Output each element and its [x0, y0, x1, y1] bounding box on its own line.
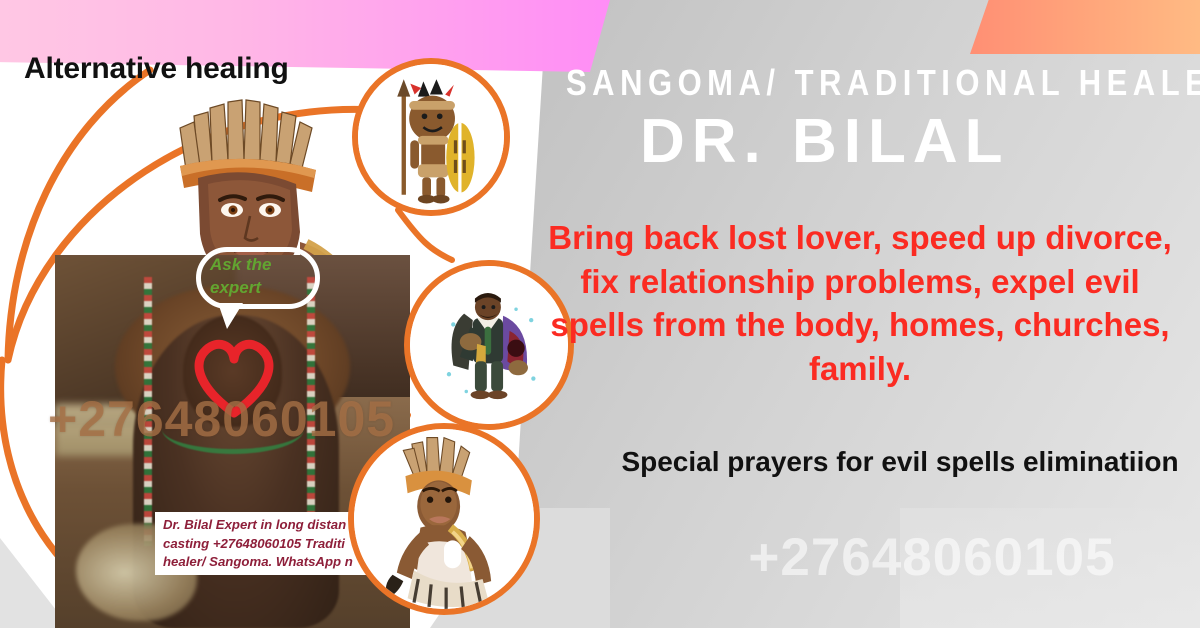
ask-the-expert-bubble: Ask the expert — [196, 247, 320, 309]
speech-bubble-label: Ask the expert — [210, 254, 314, 300]
badge-kneeling-sangoma — [348, 423, 540, 615]
special-prayers-text: Special prayers for evil spells eliminat… — [600, 443, 1200, 481]
kicker-text: SANGOMA/ TRADITIONAL HEALER — [566, 62, 1180, 104]
badge-zulu-warrior — [352, 58, 510, 216]
services-text: Bring back lost lover, speed up divorce,… — [530, 216, 1190, 390]
page-title: Alternative healing — [24, 52, 289, 86]
poster-canvas: Alternative healing — [0, 0, 1200, 628]
zulu-warrior-illustration — [358, 64, 504, 210]
phone-watermark: +27648060105 — [672, 527, 1192, 588]
top-orange-banner — [970, 0, 1200, 58]
photo-phone-watermark: +27648060105 — [48, 390, 395, 448]
doctor-name: DR. BILAL — [640, 106, 1200, 177]
kneeling-sangoma-illustration — [354, 429, 534, 609]
